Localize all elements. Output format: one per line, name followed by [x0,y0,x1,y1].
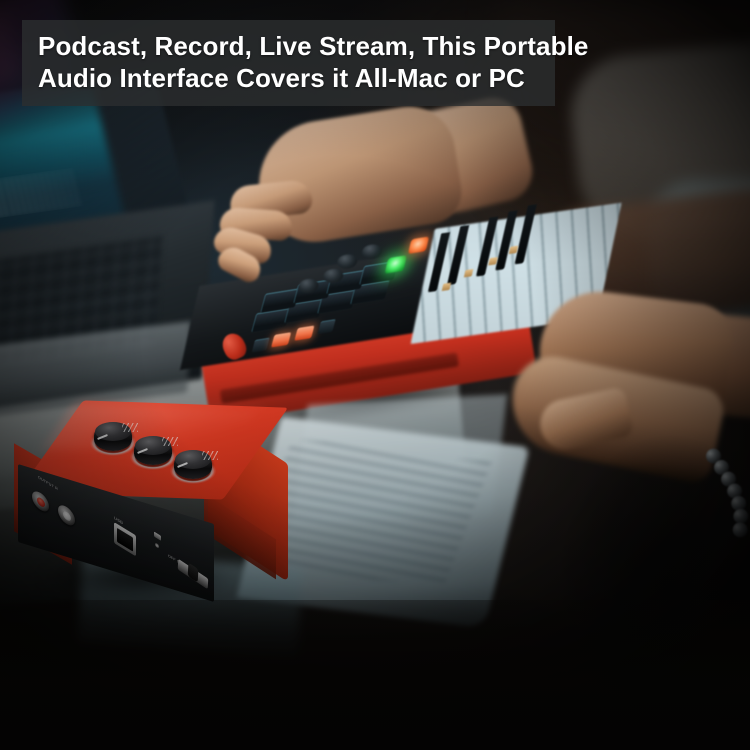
red-usb-audio-interface: OUTPUT R USB OFF ON [8,398,298,598]
volume-knob [170,450,216,484]
product-photo: OUTPUT R USB OFF ON [0,0,750,750]
power-led [154,532,161,541]
headline-overlay: Podcast, Record, Live Stream, This Porta… [22,20,555,106]
left-hand [218,105,488,310]
power-led-indicator [155,542,159,548]
rca-jack-right [32,488,49,515]
bead [731,521,749,539]
screen-glow-streaks [0,9,23,96]
power-switch [178,556,209,591]
usb-b-port [114,522,136,556]
headline-line-1: Podcast, Record, Live Stream, This Porta… [38,30,539,62]
rca-output-label: OUTPUT R [38,475,58,491]
headline-line-2: Audio Interface Covers it All-Mac or PC [38,62,539,94]
rca-jack-left [58,502,75,529]
